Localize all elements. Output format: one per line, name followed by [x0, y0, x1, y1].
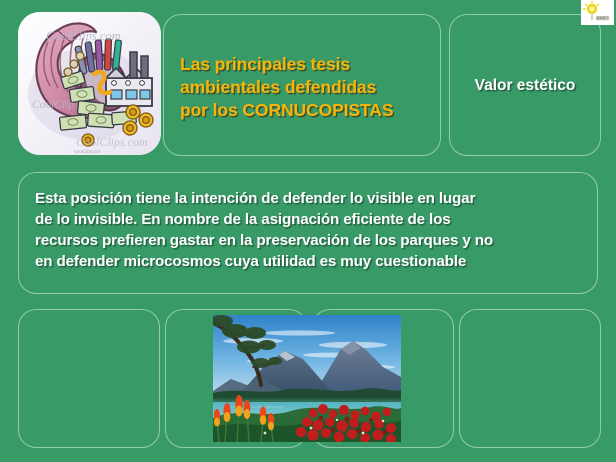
sun-logo-badge[interactable] — [581, 0, 614, 25]
clipart-cell[interactable]: CoolClips.com CoolClip CoolClips.com Coo… — [18, 12, 161, 155]
svg-text:CoolClips.com: CoolClips.com — [74, 149, 102, 154]
body-line-3: recursos prefieren gastar en la preserva… — [35, 231, 585, 252]
body-text: Esta posición tiene la intención de defe… — [35, 189, 585, 273]
title-line-1: Las principales tesis — [180, 53, 432, 76]
svg-text:CoolClip: CoolClip — [32, 99, 74, 111]
valor-estetico-cell[interactable]: Valor estético — [449, 14, 601, 156]
lake-mountain-red-flowers-photo[interactable] — [213, 315, 401, 442]
slide-canvas: CoolClips.com CoolClip CoolClips.com Coo… — [0, 0, 616, 462]
bottom-cell-4[interactable] — [459, 309, 601, 448]
svg-text:CoolClips.com: CoolClips.com — [76, 135, 148, 149]
page-title: Las principales tesis ambientales defend… — [180, 53, 432, 121]
body-text-cell[interactable]: Esta posición tiene la intención de defe… — [18, 172, 598, 294]
svg-text:CoolClips.com: CoolClips.com — [46, 29, 121, 43]
cornucopia-money-factory-clipart: CoolClips.com CoolClip CoolClips.com Coo… — [18, 12, 161, 155]
bottom-cell-1[interactable] — [18, 309, 160, 448]
body-line-2: de lo invisible. En nombre de la asignac… — [35, 210, 585, 231]
title-line-2: ambientales defendidas — [180, 76, 432, 99]
title-line-3: por los CORNUCOPISTAS — [180, 99, 432, 122]
body-line-4: en defender microcosmos cuya utilidad es… — [35, 252, 585, 273]
body-line-1: Esta posición tiene la intención de defe… — [35, 189, 585, 210]
title-cell[interactable]: Las principales tesis ambientales defend… — [163, 14, 441, 156]
valor-estetico-label: Valor estético — [450, 77, 600, 95]
